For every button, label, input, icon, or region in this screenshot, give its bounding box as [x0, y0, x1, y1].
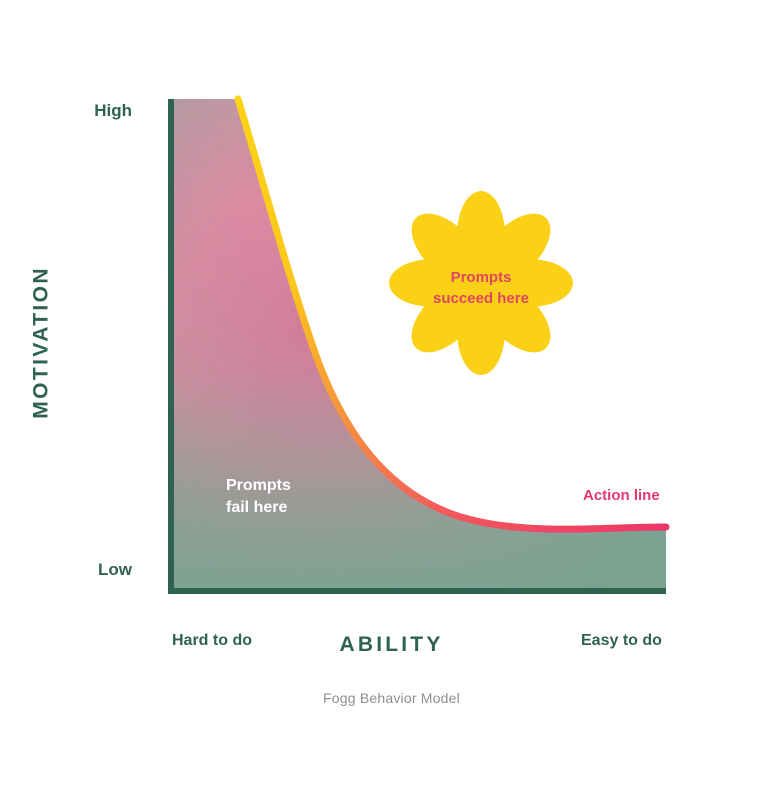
figure-caption: Fogg Behavior Model [0, 690, 783, 707]
x-axis-title: ABILITY [0, 633, 783, 658]
y-axis-line [168, 99, 174, 594]
y-axis-title: MOTIVATION [30, 252, 55, 432]
x-axis-right-label: Easy to do [581, 632, 662, 651]
prompts-fail-annotation: Prompts fail here [226, 475, 291, 518]
figure-canvas: High Low MOTIVATION ABILITY Hard to do E… [0, 0, 783, 805]
prompts-succeed-annotation: Prompts succeed here [411, 267, 551, 310]
x-axis-line [168, 588, 666, 594]
action-line-label: Action line [583, 487, 660, 505]
x-axis-left-label: Hard to do [172, 632, 252, 651]
y-axis-high-label: High [22, 101, 132, 121]
y-axis-low-label: Low [22, 560, 132, 580]
